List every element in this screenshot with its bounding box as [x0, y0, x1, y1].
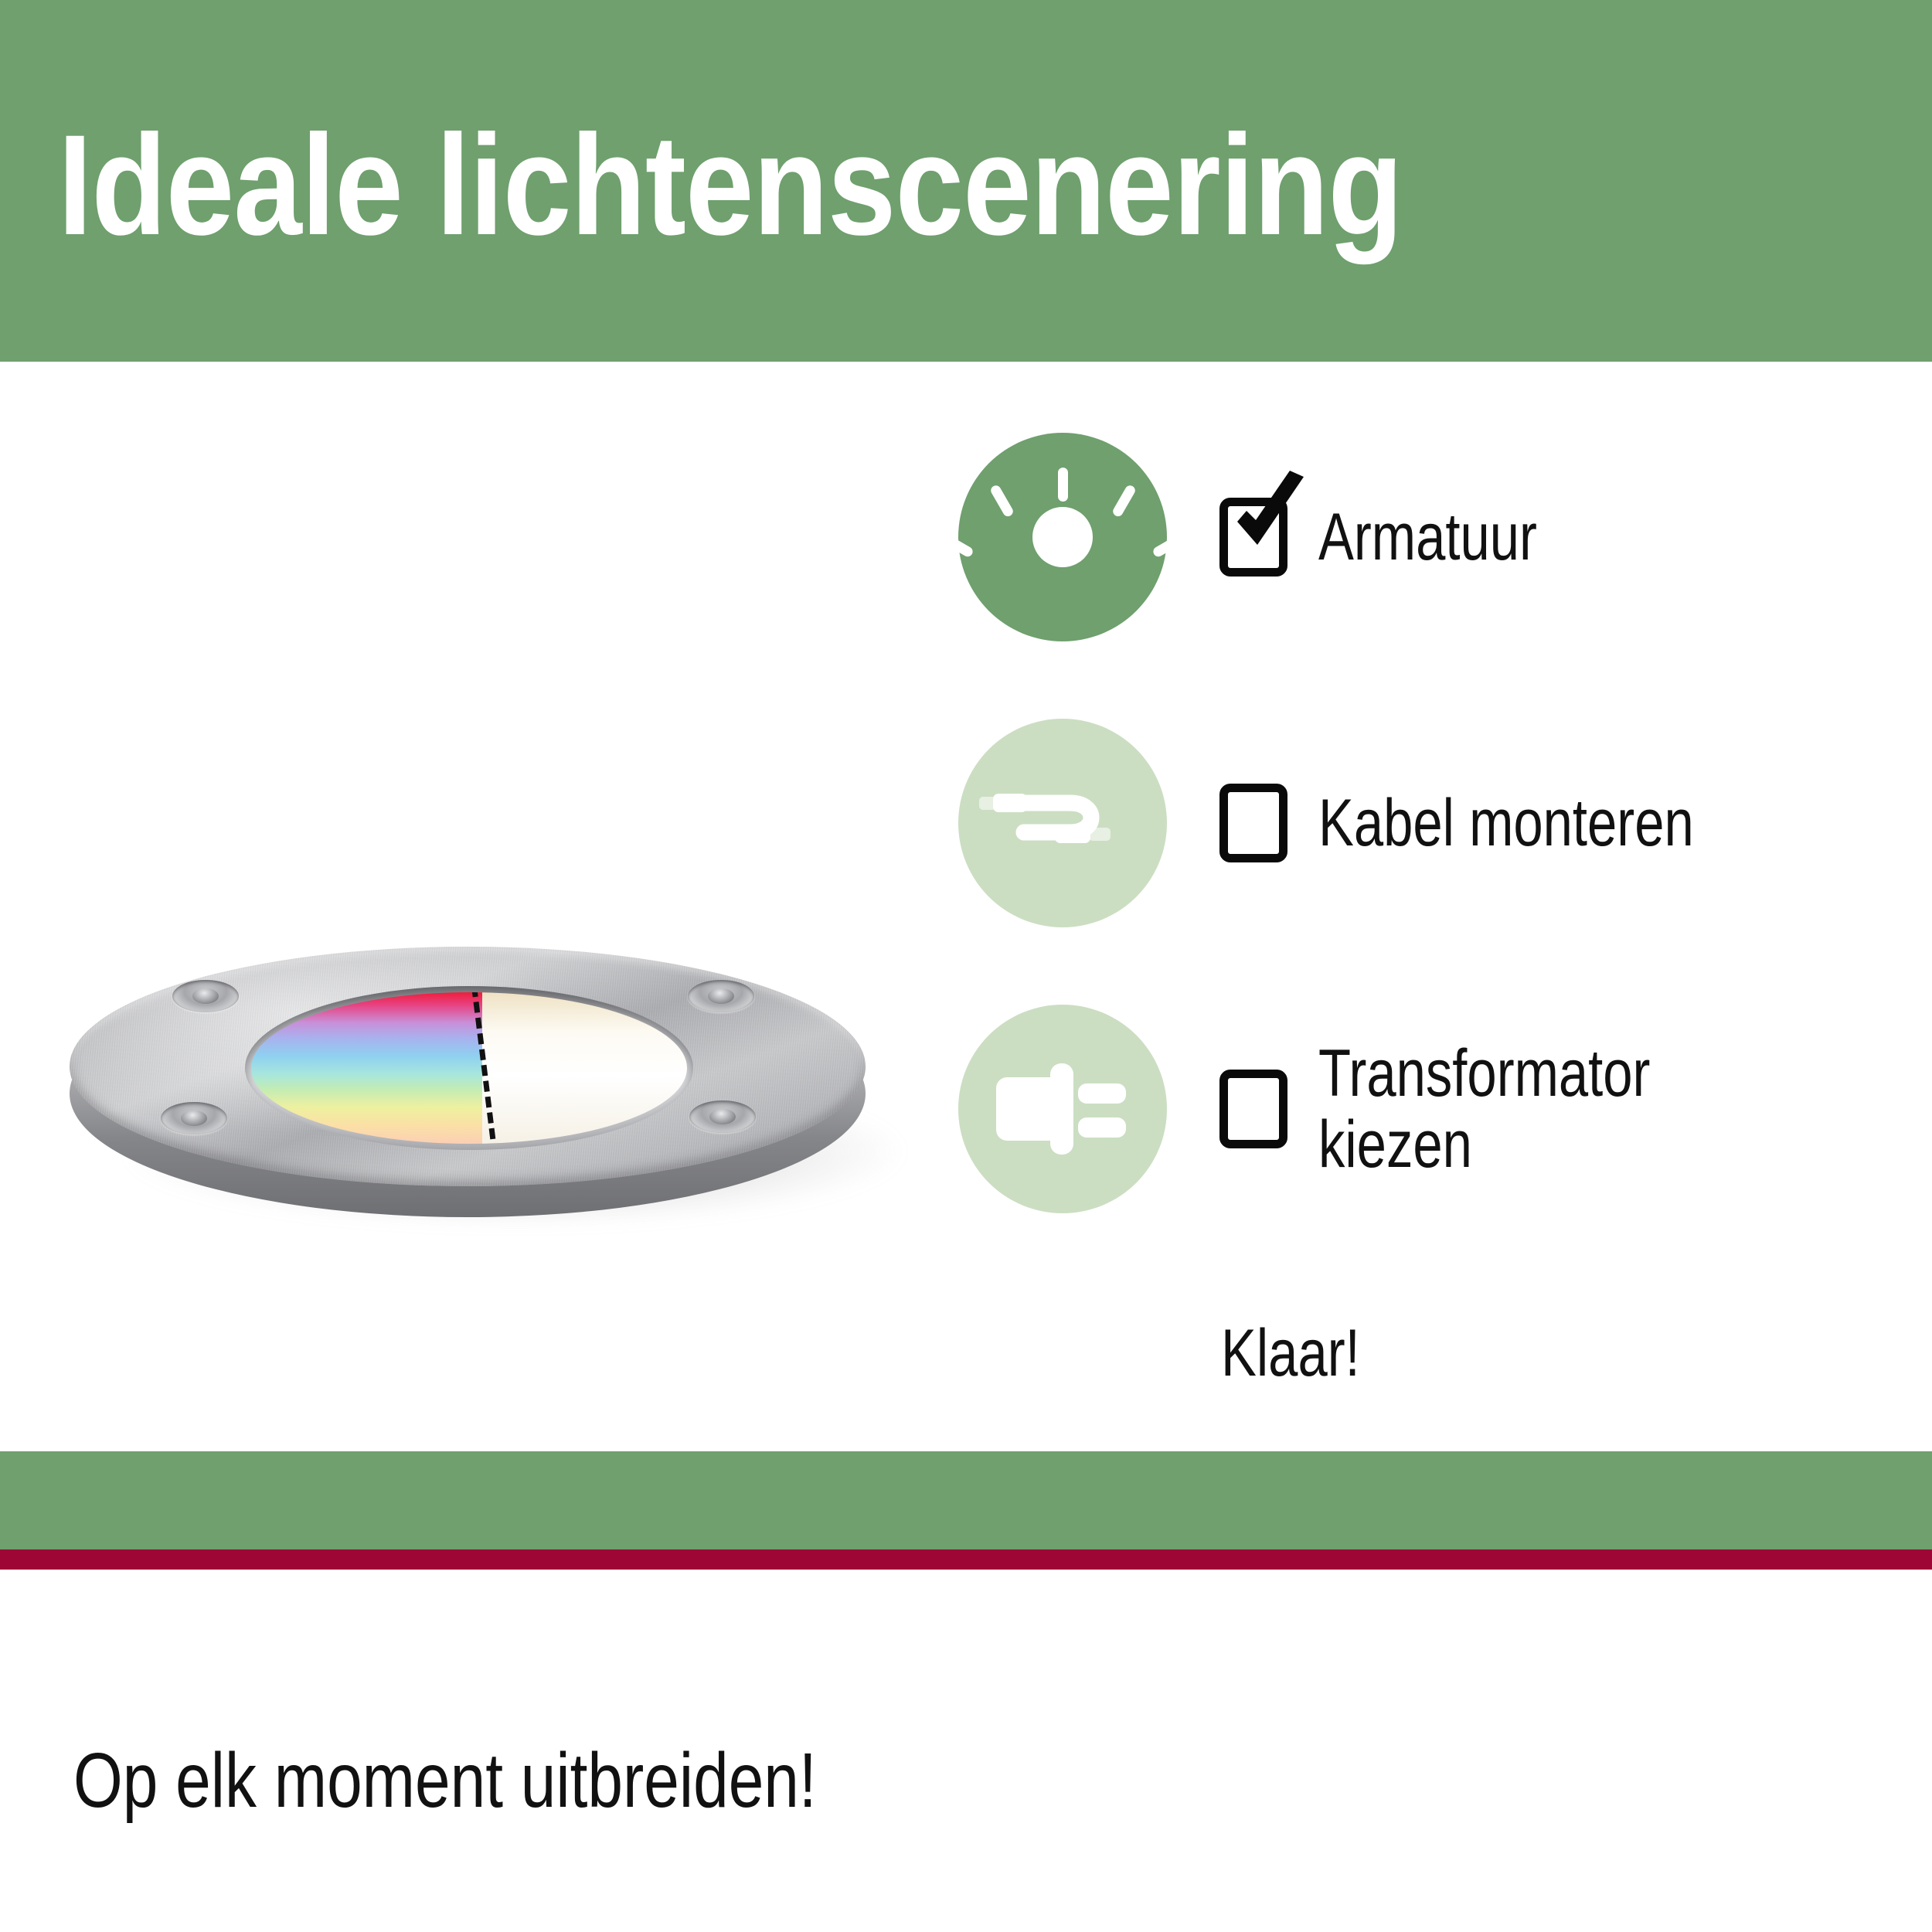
poster-canvas: Ideale lichtenscenering: [0, 0, 1932, 1932]
checklist-label-transformator: Transformator kiezen: [1318, 1038, 1932, 1180]
checkbox-armatuur[interactable]: [1219, 498, 1287, 577]
screw-icon: [689, 1100, 756, 1133]
checklist-row-transformator[interactable]: Transformator kiezen: [958, 1005, 1932, 1213]
page-title: Ideale lichtenscenering: [58, 108, 1587, 263]
checklist-label-kabel: Kabel monteren: [1318, 787, 1932, 859]
product-lens: [251, 992, 687, 1144]
checklist-row-kabel[interactable]: Kabel monteren: [958, 719, 1932, 927]
product-image: [46, 912, 935, 1236]
checklist-label-armatuur: Armatuur: [1318, 502, 1932, 573]
header-banner: Ideale lichtenscenering: [0, 0, 1932, 362]
checkbox-kabel[interactable]: [1219, 784, 1287, 862]
footer-text: Op elk moment uitbreiden!: [73, 1737, 817, 1824]
sun-icon: [958, 433, 1167, 641]
checkmark-icon: [1223, 471, 1316, 563]
screw-icon: [172, 980, 239, 1012]
done-text: Klaar!: [1221, 1318, 1360, 1389]
footer-green-bar: [0, 1451, 1932, 1549]
lens-rgb-half: [251, 992, 491, 1144]
cable-icon: [958, 719, 1167, 927]
screw-icon: [688, 980, 754, 1012]
footer-crimson-bar: [0, 1549, 1932, 1570]
plug-icon: [958, 1005, 1167, 1213]
product-lens-well: [245, 986, 693, 1150]
checklist-row-armatuur[interactable]: Armatuur: [958, 433, 1932, 641]
screw-icon: [161, 1102, 227, 1134]
checklist: Armatuur Kabel monteren: [958, 433, 1932, 1406]
lens-warmwhite-half: [482, 992, 687, 1144]
checkbox-transformator[interactable]: [1219, 1070, 1287, 1148]
